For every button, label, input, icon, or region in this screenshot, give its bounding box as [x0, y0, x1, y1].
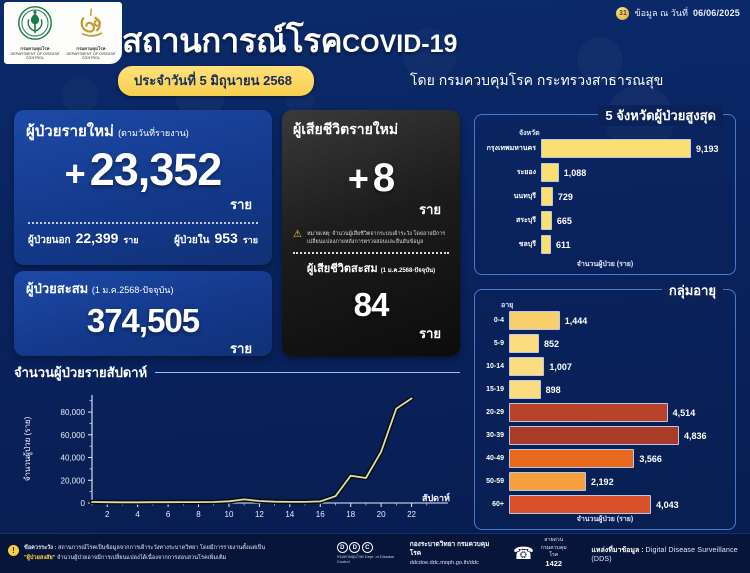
new-deaths-unit: ราย [293, 199, 449, 220]
bar-fill [541, 163, 559, 182]
weekly-cases-chart-title-text: จำนวนผู้ป่วยรายสัปดาห์ [14, 362, 147, 383]
page-title: สถานการณ์โรคCOVID-19 [122, 14, 457, 67]
bar-category-label: นนทบุรี [481, 191, 541, 202]
bar-row: 40-493,566 [481, 449, 729, 468]
calendar-icon: 31 [616, 7, 629, 20]
inpatient-value: 953 [214, 230, 237, 246]
x-tick-label: 14 [285, 510, 294, 519]
footer-caution-line1: สถานการณ์โรคเป็นข้อมูลจากการเฝ้าระวังทาง… [58, 545, 265, 551]
x-tick-label: 6 [166, 510, 171, 519]
inpatient-stat: ผู้ป่วยใน 953 ราย [174, 230, 258, 248]
new-cases-breakdown: ผู้ป่วยนอก 22,399 ราย ผู้ป่วยใน 953 ราย [26, 230, 260, 248]
bar-track: 4,043 [509, 495, 729, 514]
x-tick-label: 12 [255, 510, 264, 519]
ddc-text-block: กองระบาดวิทยา กรมควบคุมโรค ddcdoe.ddc.mo… [410, 540, 495, 568]
cumulative-deaths-value-row: 84 [293, 289, 449, 320]
bar-fill [541, 235, 551, 254]
footer-caution: ! ข้อควรระวัง : สถานการณ์โรคเป็นข้อมูลจา… [0, 544, 331, 563]
data-source: แหล่งที่มาข้อมูล : Digital Disease Surve… [591, 545, 750, 563]
data-asof-label: ข้อมูล ณ วันที่ [634, 6, 688, 20]
x-axis-label: สัปดาห์ [422, 492, 450, 503]
new-cases-card: ผู้ป่วยรายใหม่ (ตามวันที่รายงาน) + 23,35… [14, 110, 272, 265]
moph-logo-caption: กรมควบคุมโรค DEPARTMENT OF DISEASE CONTR… [9, 46, 61, 60]
bar-fill [509, 334, 539, 353]
ddc-logo-icon: D D C [337, 542, 404, 553]
ddc-url: ddcdoe.ddc.moph.go.th/ddc [410, 559, 495, 567]
bar-value-label: 898 [546, 385, 561, 395]
bar-row: 30-394,836 [481, 426, 729, 445]
report-date-value: 5 มิถุนายน 2568 [200, 73, 293, 88]
bar-track: 611 [541, 235, 729, 254]
y-axis-label: จำนวนผู้ป่วย (ราย) [23, 416, 33, 481]
age-groups-ylabel: อายุ [501, 300, 513, 311]
new-deaths-value-row: + 8 [293, 159, 449, 197]
bar-value-label: 611 [556, 240, 571, 250]
bar-track: 1,444 [509, 311, 729, 330]
bar-row: ชลบุรี611 [481, 235, 729, 254]
footer-caution-label: ข้อควรระวัง : [24, 545, 56, 551]
bar-row: 60+4,043 [481, 495, 729, 514]
y-tick-label: 0 [81, 499, 86, 508]
bar-track: 2,192 [509, 472, 729, 491]
footer-caution-line2: จำนวนผู้ป่วยอาจมีการเปลี่ยนแปลงได้เนื่อง… [55, 555, 226, 561]
y-tick-label: 40,000 [61, 454, 86, 463]
cumulative-cases-title-text: ผู้ป่วยสะสม [26, 281, 88, 296]
cumulative-deaths-unit: ราย [293, 323, 449, 344]
bar-value-label: 852 [544, 339, 559, 349]
outpatient-stat: ผู้ป่วยนอก 22,399 ราย [28, 230, 139, 248]
bar-fill [509, 495, 651, 514]
page-footer: ! ข้อควรระวัง : สถานการณ์โรคเป็นข้อมูลจา… [0, 533, 750, 573]
warning-icon: ! [8, 545, 19, 556]
ministry-of-public-health-logo: กรมควบคุมโรค DEPARTMENT OF DISEASE CONTR… [9, 5, 61, 60]
cumulative-cases-value: 374,505 [87, 305, 199, 336]
y-tick-label: 60,000 [61, 431, 86, 440]
bar-category-label: ระยอง [481, 167, 541, 178]
cumulative-cases-card: ผู้ป่วยสะสม (1 ม.ค.2568-ปัจจุบัน) 374,50… [14, 271, 272, 356]
outpatient-value: 22,399 [76, 230, 119, 246]
bar-fill [541, 139, 691, 158]
cumulative-cases-title: ผู้ป่วยสะสม (1 ม.ค.2568-ปัจจุบัน) [26, 278, 260, 299]
cumulative-cases-subtitle: (1 ม.ค.2568-ปัจจุบัน) [92, 285, 174, 295]
bar-fill [509, 472, 586, 491]
royal-logo-caption: กรมควบคุมโรค DEPARTMENT OF DISEASE CONTR… [65, 46, 117, 60]
bar-fill [509, 403, 668, 422]
bar-category-label: 0-4 [481, 317, 509, 324]
weekly-line-shadow [92, 398, 412, 502]
hotline-text: สายด่วน กรมควบคุมโรค 1422 [538, 537, 569, 569]
bar-track: 1,007 [509, 357, 729, 376]
bar-row: 20-294,514 [481, 403, 729, 422]
age-groups-panel: กลุ่มอายุ อายุ 0-41,4445-985210-141,0071… [474, 289, 736, 530]
data-asof: 31 ข้อมูล ณ วันที่ 06/06/2025 [616, 6, 740, 20]
bar-value-label: 9,193 [696, 144, 719, 154]
bar-track: 665 [541, 211, 729, 230]
bar-track: 898 [509, 380, 729, 399]
bar-track: 4,514 [509, 403, 729, 422]
new-deaths-card: ผู้เสียชีวิตรายใหม่ + 8 ราย ⚠ หมายเหตุ: … [282, 110, 460, 356]
bar-value-label: 4,514 [673, 408, 696, 418]
x-tick-label: 18 [346, 510, 355, 519]
new-cases-title: ผู้ป่วยรายใหม่ (ตามวันที่รายงาน) [26, 119, 260, 143]
weekly-line-series [92, 398, 412, 502]
deaths-note-text: หมายเหตุ: จำนวนผู้เสียชีวิตจากระบบเฝ้าระ… [307, 230, 449, 246]
report-date-badge: ประจำวันที่ 5 มิถุนายน 2568 [118, 66, 314, 96]
royal-emblem-icon [73, 5, 109, 41]
data-asof-date: 06/06/2025 [693, 8, 740, 18]
bar-category-label: 40-49 [481, 455, 509, 462]
age-groups-title: กลุ่มอายุ [662, 280, 723, 301]
bar-category-label: 10-14 [481, 363, 509, 370]
bar-value-label: 1,007 [549, 362, 572, 372]
covid-dashboard-page: กรมควบคุมโรค DEPARTMENT OF DISEASE CONTR… [0, 0, 750, 573]
hotline-number: 1422 [545, 559, 562, 568]
inpatient-label: ผู้ป่วยใน [174, 233, 209, 248]
ddc-mark-subtitle: กรมควบคุมโรค Dept. of Disease Control [337, 554, 404, 564]
bar-category-label: 50-59 [481, 478, 509, 485]
bar-category-label: 15-19 [481, 386, 509, 393]
bar-value-label: 4,836 [684, 431, 707, 441]
hotline-label-1: สายด่วน [544, 537, 563, 543]
weekly-cases-chart-panel: จำนวนผู้ป่วยรายสัปดาห์ 020,00040,00060,0… [14, 362, 460, 530]
bar-fill [509, 380, 541, 399]
bar-value-label: 1,088 [564, 168, 587, 178]
ddc-mark-block: D D C กรมควบคุมโรค Dept. of Disease Cont… [337, 542, 404, 564]
bar-value-label: 4,043 [656, 500, 679, 510]
warning-icon: ⚠ [293, 230, 302, 246]
y-tick-label: 20,000 [61, 476, 86, 485]
new-cases-value-row: + 23,352 [26, 149, 260, 192]
bar-category-label: 20-29 [481, 409, 509, 416]
bar-row: 5-9852 [481, 334, 729, 353]
bar-track: 4,836 [509, 426, 729, 445]
bar-value-label: 1,444 [565, 316, 588, 326]
new-cases-unit: ราย [26, 194, 260, 215]
deaths-divider [293, 252, 449, 254]
dashboard-main: ผู้ป่วยรายใหม่ (ตามวันที่รายงาน) + 23,35… [0, 108, 750, 533]
new-deaths-title: ผู้เสียชีวิตรายใหม่ [293, 119, 449, 141]
x-tick-label: 22 [407, 510, 416, 519]
bar-category-label: 60+ [481, 501, 509, 508]
y-tick-label: 80,000 [61, 408, 86, 417]
cumulative-deaths-value: 84 [354, 289, 389, 320]
new-cases-plus-sign: + [65, 156, 86, 192]
outpatient-label: ผู้ป่วยนอก [28, 233, 71, 248]
hotline-label-2: กรมควบคุมโรค [541, 545, 567, 558]
ddc-branding: D D C กรมควบคุมโรค Dept. of Disease Cont… [337, 540, 495, 568]
bar-fill [509, 426, 679, 445]
new-cases-title-text: ผู้ป่วยรายใหม่ [26, 123, 114, 140]
bar-fill [509, 357, 544, 376]
bar-row: 0-41,444 [481, 311, 729, 330]
bar-track: 1,088 [541, 163, 729, 182]
bar-category-label: 5-9 [481, 340, 509, 347]
hotline-block: ☎ สายด่วน กรมควบคุมโรค 1422 [513, 537, 569, 569]
new-cases-subtitle: (ตามวันที่รายงาน) [118, 128, 189, 138]
bar-row: สระบุรี665 [481, 211, 729, 230]
bar-value-label: 729 [558, 192, 573, 202]
weekly-cases-svg: 020,00040,00060,00080,000246810121416182… [14, 387, 460, 529]
bar-row: 50-592,192 [481, 472, 729, 491]
top-provinces-xlabel: จำนวนผู้ป่วย (ราย) [475, 259, 735, 270]
report-date-label: ประจำวันที่ [134, 73, 196, 88]
footer-caution-text: ข้อควรระวัง : สถานการณ์โรคเป็นข้อมูลจากก… [24, 544, 265, 563]
cumulative-cases-unit: ราย [26, 338, 260, 359]
x-tick-label: 8 [196, 510, 201, 519]
bar-category-label: สระบุรี [481, 215, 541, 226]
bar-row: ระยอง1,088 [481, 163, 729, 182]
x-tick-label: 2 [105, 510, 110, 519]
ddc-mark-d2: D [349, 542, 360, 553]
inpatient-unit: ราย [243, 233, 258, 247]
bar-value-label: 2,192 [591, 477, 614, 487]
phone-icon: ☎ [513, 545, 534, 562]
bar-row: 15-19898 [481, 380, 729, 399]
bar-fill [509, 449, 634, 468]
top-provinces-bars: กรุงเทพมหานคร9,193ระยอง1,088นนทบุรี729สร… [481, 139, 729, 259]
bar-row: นนทบุรี729 [481, 187, 729, 206]
x-tick-label: 16 [316, 510, 325, 519]
moph-emblem-icon [17, 5, 53, 41]
bar-track: 9,193 [541, 139, 729, 158]
ddc-mark-d1: D [337, 542, 348, 553]
top-provinces-title: 5 จังหวัดผู้ป่วยสูงสุด [598, 105, 723, 126]
cumulative-deaths-title: ผู้เสียชีวิตสะสม (1 ม.ค.2568-ปัจจุบัน) [293, 259, 449, 277]
bar-fill [541, 187, 553, 206]
page-title-covid: COVID-19 [342, 30, 457, 58]
top-provinces-panel: 5 จังหวัดผู้ป่วยสูงสุด จังหวัด กรุงเทพมห… [474, 114, 736, 275]
title-rule [155, 372, 460, 373]
footer-caution-highlight: "ผู้ป่วยสงสัย" [24, 555, 55, 561]
page-title-thai: สถานการณ์โรค [122, 22, 342, 59]
top-provinces-ylabel: จังหวัด [519, 128, 540, 139]
age-groups-xlabel: จำนวนผู้ป่วย (ราย) [475, 514, 735, 525]
data-source-label: แหล่งที่มาข้อมูล : [591, 547, 643, 554]
bar-track: 852 [509, 334, 729, 353]
new-cases-divider [28, 222, 258, 224]
weekly-cases-chart-title: จำนวนผู้ป่วยรายสัปดาห์ [14, 362, 460, 383]
ddc-name: กองระบาดวิทยา กรมควบคุมโรค [410, 540, 495, 560]
bar-row: 10-141,007 [481, 357, 729, 376]
x-tick-label: 10 [225, 510, 234, 519]
x-tick-label: 20 [377, 510, 386, 519]
bar-track: 729 [541, 187, 729, 206]
bar-fill [541, 211, 552, 230]
bar-row: กรุงเทพมหานคร9,193 [481, 139, 729, 158]
bar-value-label: 665 [557, 216, 572, 226]
weekly-cases-plot: 020,00040,00060,00080,000246810121416182… [14, 387, 460, 529]
cumulative-cases-value-row: 374,505 [26, 305, 260, 336]
publisher-text: โดย กรมควบคุมโรค กระทรวงสาธารณสุข [410, 70, 663, 92]
outpatient-unit: ราย [123, 233, 138, 247]
page-header: กรมควบคุมโรค DEPARTMENT OF DISEASE CONTR… [0, 0, 750, 108]
ddc-mark-c: C [362, 542, 373, 553]
new-deaths-plus-sign: + [348, 161, 369, 197]
cumulative-deaths-title-text: ผู้เสียชีวิตสะสม [307, 263, 378, 275]
x-tick-label: 4 [135, 510, 140, 519]
bar-category-label: ชลบุรี [481, 239, 541, 250]
deaths-note: ⚠ หมายเหตุ: จำนวนผู้เสียชีวิตจากระบบเฝ้า… [293, 230, 449, 246]
new-deaths-value: 8 [373, 159, 394, 197]
bar-value-label: 3,566 [639, 454, 662, 464]
cumulative-deaths-subtitle: (1 ม.ค.2568-ปัจจุบัน) [381, 268, 435, 274]
age-groups-bars: 0-41,4445-985210-141,00715-1989820-294,5… [481, 311, 729, 518]
bar-category-label: กรุงเทพมหานคร [481, 143, 541, 154]
bar-track: 3,566 [509, 449, 729, 468]
new-cases-value: 23,352 [90, 149, 222, 192]
bar-category-label: 30-39 [481, 432, 509, 439]
logo-plate: กรมควบคุมโรค DEPARTMENT OF DISEASE CONTR… [4, 2, 122, 64]
royal-emblem-logo: กรมควบคุมโรค DEPARTMENT OF DISEASE CONTR… [65, 5, 117, 60]
bar-fill [509, 311, 560, 330]
